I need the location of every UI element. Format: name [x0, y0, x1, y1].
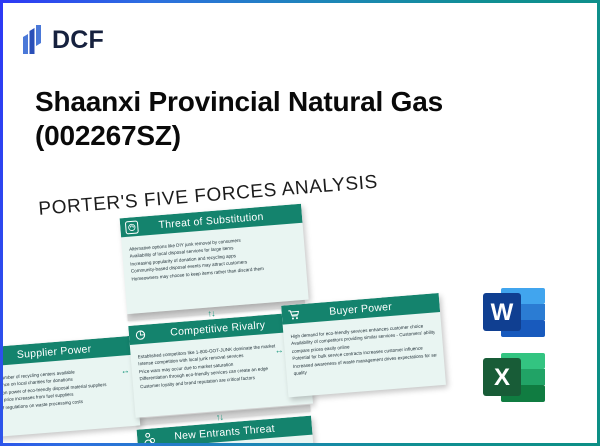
force-card-title: Buyer Power	[329, 300, 393, 317]
force-card-threat-of-substitution[interactable]: Threat of Substitution Alternative optio…	[120, 204, 309, 314]
connector-arrow-bottom: ↑↓	[216, 413, 224, 423]
page-title: Shaanxi Provincial Natural Gas (002267SZ…	[35, 85, 535, 153]
recycle-refresh-icon	[125, 220, 139, 234]
connector-arrow-top: ↑↓	[207, 309, 215, 319]
connector-arrow-right: ↔	[274, 346, 283, 356]
page-content: DCF Shaanxi Provincial Natural Gas (0022…	[3, 3, 597, 443]
brand-logo: DCF	[21, 25, 104, 55]
force-card-body: Limited number of recycling centers avai…	[3, 355, 139, 420]
microsoft-excel-icon[interactable]: X	[481, 351, 547, 412]
word-icon-letter: W	[491, 299, 514, 326]
pie-chart-icon	[133, 328, 147, 342]
diagram-rotation-wrapper: PORTER'S FIVE FORCES ANALYSIS	[3, 173, 512, 443]
force-card-supplier-power[interactable]: Supplier Power Limited number of recycli…	[3, 336, 140, 439]
bar-chart-logo-icon	[21, 25, 45, 55]
page-frame: DCF Shaanxi Provincial Natural Gas (0022…	[0, 0, 600, 446]
force-card-title: Supplier Power	[16, 343, 91, 361]
connector-arrow-left: ↔	[120, 366, 129, 376]
excel-icon-letter: X	[494, 364, 510, 391]
person-badge-icon	[142, 431, 156, 443]
shopping-cart-icon	[286, 307, 300, 321]
force-card-body: High demand for eco-friendly services en…	[283, 312, 445, 384]
microsoft-word-icon[interactable]: W	[481, 286, 547, 347]
brand-name: DCF	[52, 28, 104, 53]
force-card-buyer-power[interactable]: Buyer Power High demand for eco-friendly…	[281, 293, 446, 397]
